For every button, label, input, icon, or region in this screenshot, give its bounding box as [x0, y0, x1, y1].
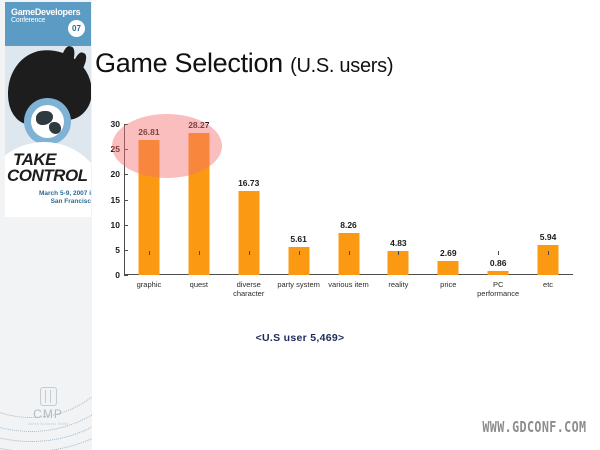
bar-item[interactable]: 26.81graphic — [124, 124, 174, 275]
x-axis-tick-line: various item — [328, 280, 368, 289]
bar-item[interactable]: 4.83reality — [373, 124, 423, 275]
y-axis-tick-label: 20 — [96, 169, 120, 179]
x-axis-tick-line: party system — [277, 280, 320, 289]
bar-item[interactable]: 0.86PCperformance — [473, 124, 523, 275]
bar-item[interactable]: 5.94etc — [523, 124, 573, 275]
bar-value-label: 28.27 — [188, 120, 209, 130]
footer-url: WWW.GDCONF.COM — [482, 418, 586, 436]
x-axis-tick-label: diversecharacter — [233, 280, 264, 299]
x-axis-tick-line: etc — [543, 280, 553, 289]
cmp-logo-tagline: United Business Media — [22, 422, 74, 426]
bar-item[interactable]: 5.61party system — [274, 124, 324, 275]
x-axis-tick-label: reality — [388, 280, 408, 289]
globe-icon — [31, 105, 64, 138]
gdc-poster: GameDevelopers Conference 07 TAKE CONTRO… — [5, 2, 91, 217]
page-title: Game Selection (U.S. users) — [95, 48, 393, 79]
bar-value-label: 5.61 — [290, 234, 307, 244]
x-axis-tick-line: reality — [388, 280, 408, 289]
x-axis-tick-line: performance — [477, 289, 519, 298]
x-axis-tick-label: graphic — [137, 280, 162, 289]
x-axis-tick-line: graphic — [137, 280, 162, 289]
chart-caption: <U.S user 5,469> — [0, 332, 600, 344]
x-axis-tick-line: price — [440, 280, 456, 289]
x-axis-tick-mark — [498, 251, 499, 255]
poster-headline-line2: CONTROL — [7, 168, 91, 184]
x-axis-tick-line: diverse — [233, 280, 264, 289]
bar-chart: 051015202530 26.81graphic28.27quest16.73… — [96, 124, 581, 299]
bar[interactable] — [438, 261, 459, 275]
cmp-logo-name: CMP — [22, 407, 74, 421]
y-axis-tick-label: 30 — [96, 119, 120, 129]
bar-value-label: 4.83 — [390, 238, 407, 248]
gdc-logo-line1: GameDevelopers — [11, 8, 80, 17]
page-title-main: Game Selection — [95, 48, 290, 78]
x-axis-tick-label: party system — [277, 280, 320, 289]
bar-item[interactable]: 8.26various item — [324, 124, 374, 275]
x-axis-tick-mark — [448, 251, 449, 255]
bar[interactable] — [538, 245, 559, 275]
bar-value-label: 16.73 — [238, 178, 259, 188]
x-axis-tick-label: etc — [543, 280, 553, 289]
x-axis-tick-line: quest — [190, 280, 208, 289]
y-axis-tick-label: 0 — [96, 270, 120, 280]
x-axis-tick-mark — [548, 251, 549, 255]
sidebar-decoration: GameDevelopers Conference 07 TAKE CONTRO… — [0, 0, 92, 450]
y-axis-tick-label: 25 — [96, 144, 120, 154]
x-axis-tick-mark — [398, 251, 399, 255]
slide-canvas: GameDevelopers Conference 07 TAKE CONTRO… — [0, 0, 600, 450]
cmp-logo: CMP United Business Media — [22, 387, 74, 426]
bar-value-label: 8.26 — [340, 220, 357, 230]
y-axis-tick-label: 10 — [96, 220, 120, 230]
poster-date-line2: San Francisco — [19, 198, 91, 206]
cmp-mark-icon — [40, 387, 57, 406]
x-axis-tick-label: various item — [328, 280, 368, 289]
bar-value-label: 0.86 — [490, 258, 507, 268]
x-axis-tick-mark — [249, 251, 250, 255]
poster-date: March 5-9, 2007 in San Francisco — [19, 190, 91, 206]
bar-item[interactable]: 16.73diversecharacter — [224, 124, 274, 275]
bar-item[interactable]: 2.69price — [423, 124, 473, 275]
x-axis-tick-line: character — [233, 289, 264, 298]
bar-item[interactable]: 28.27quest — [174, 124, 224, 275]
poster-date-line1: March 5-9, 2007 in — [19, 190, 91, 198]
x-axis-tick-mark — [149, 251, 150, 255]
bar[interactable] — [488, 271, 509, 275]
y-axis-tick-label: 15 — [96, 195, 120, 205]
x-axis-tick-mark — [349, 251, 350, 255]
x-axis-tick-label: quest — [190, 280, 208, 289]
bar-value-label: 26.81 — [138, 127, 159, 137]
x-axis-tick-label: PCperformance — [477, 280, 519, 299]
x-axis-tick-label: price — [440, 280, 456, 289]
page-title-subtitle: (U.S. users) — [290, 55, 393, 77]
x-axis-tick-mark — [199, 251, 200, 255]
poster-headline: TAKE CONTROL — [13, 152, 91, 184]
y-axis-tick-label: 5 — [96, 245, 120, 255]
bar-value-label: 5.94 — [540, 232, 557, 242]
x-axis-tick-line: PC — [477, 280, 519, 289]
x-axis-tick-mark — [299, 251, 300, 255]
y-axis-tick-mark — [124, 275, 128, 276]
bar[interactable] — [238, 191, 259, 275]
bar-series: 26.81graphic28.27quest16.73diversecharac… — [124, 124, 573, 275]
gdc-year-badge: 07 — [68, 20, 85, 37]
